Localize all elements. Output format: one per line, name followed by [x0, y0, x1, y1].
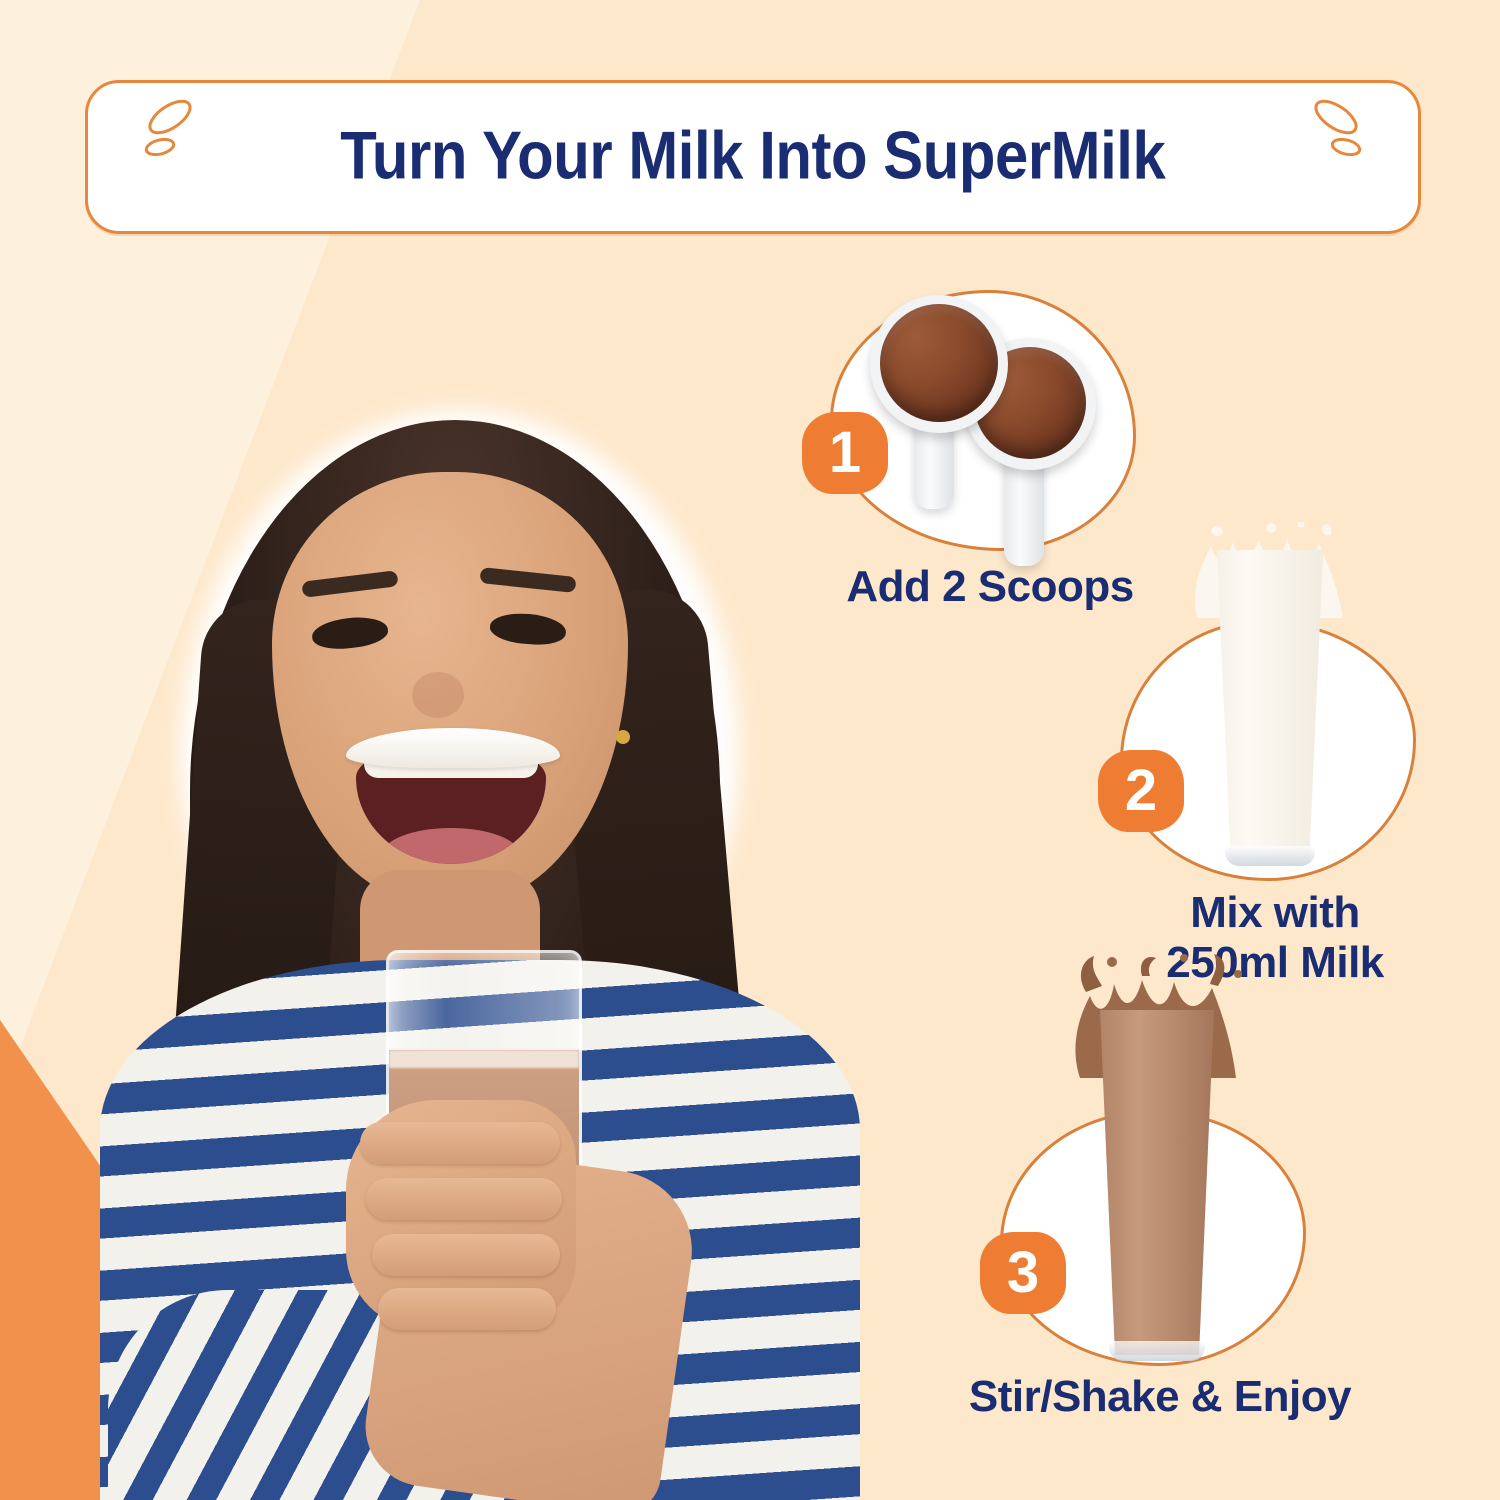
- cocoa-powder: [880, 304, 998, 422]
- page-title: Turn Your Milk Into SuperMilk: [88, 116, 1418, 194]
- step-2-number-badge: 2: [1098, 750, 1184, 832]
- step-1-number: 1: [829, 424, 861, 482]
- girl-finger: [378, 1288, 556, 1330]
- header-banner: Turn Your Milk Into SuperMilk: [85, 80, 1421, 234]
- step-1-number-badge: 1: [802, 412, 888, 494]
- girl-tongue: [382, 828, 520, 864]
- page-title-text: Turn Your Milk Into SuperMilk: [340, 116, 1165, 194]
- girl-nose: [412, 672, 464, 718]
- chocolate-milk-glass-icon: [1082, 1010, 1232, 1355]
- step-3-label: Stir/Shake & Enjoy: [940, 1372, 1380, 1422]
- milk-in-glass: [1200, 550, 1340, 860]
- step-3-number: 3: [1007, 1244, 1039, 1302]
- hero-girl-photo: [60, 400, 850, 1500]
- chocolate-milk-foam: [389, 1050, 579, 1068]
- step-2-number: 2: [1125, 762, 1157, 820]
- chocolate-milk-in-glass: [1082, 1010, 1232, 1355]
- milk-glass-icon: [1200, 550, 1340, 860]
- leaf-deco-right-icon: [1300, 95, 1370, 175]
- step-1: 1 Add 2 Scoops: [830, 290, 1150, 650]
- scoop-icon: [866, 295, 1021, 515]
- girl-finger: [360, 1122, 560, 1164]
- chocolate-glass-base: [1109, 1341, 1205, 1361]
- step-1-label: Add 2 Scoops: [770, 562, 1210, 612]
- step-3: 3 Stir/Shake & Enjoy: [1000, 1110, 1320, 1500]
- milk-glass-base: [1225, 846, 1315, 866]
- girl-finger: [372, 1234, 560, 1276]
- step-3-number-badge: 3: [980, 1232, 1066, 1314]
- girl-finger: [366, 1178, 562, 1220]
- girl-earring: [616, 730, 630, 744]
